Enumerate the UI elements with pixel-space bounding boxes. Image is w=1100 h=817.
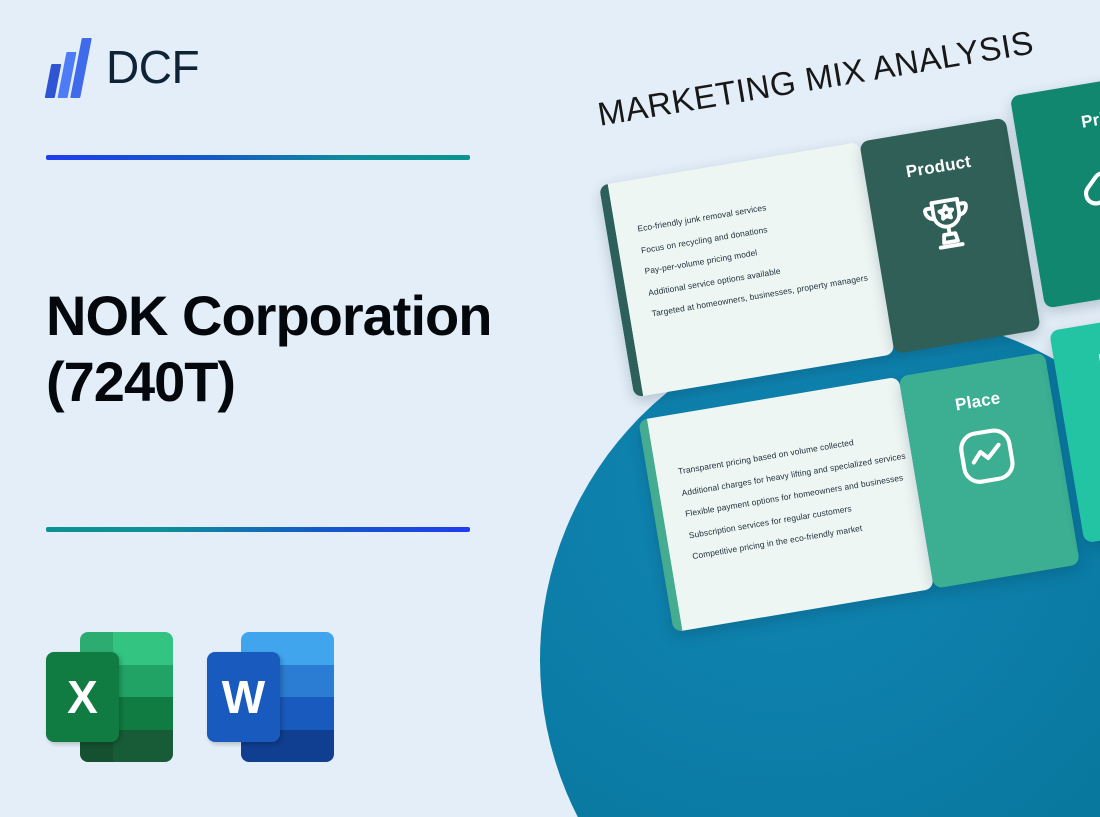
word-badge-letter: W bbox=[207, 652, 280, 742]
product-details-card: Eco-friendly junk removal services Focus… bbox=[599, 142, 895, 398]
price-details-list: Transparent pricing based on volume coll… bbox=[647, 377, 923, 565]
trophy-icon bbox=[912, 186, 984, 262]
brand-logo[interactable]: DCF bbox=[46, 36, 199, 98]
divider-bottom bbox=[46, 527, 470, 532]
quadrant-promotion-label: Promotion bbox=[1054, 330, 1100, 379]
left-panel: DCF NOK Corporation (7240T) X W bbox=[0, 0, 540, 817]
quadrant-place-label: Place bbox=[903, 380, 1052, 424]
divider-top bbox=[46, 155, 470, 160]
page-title-line1: NOK Corporation bbox=[46, 283, 516, 349]
excel-badge-letter: X bbox=[46, 652, 119, 742]
download-icons: X W bbox=[46, 632, 334, 762]
marketing-mix-grid: Eco-friendly junk removal services Focus… bbox=[565, 53, 1100, 652]
excel-download-icon[interactable]: X bbox=[46, 632, 173, 762]
bar-chart-logo-icon bbox=[46, 36, 92, 98]
quadrant-product-label: Product bbox=[864, 145, 1013, 189]
page-title-line2: (7240T) bbox=[46, 349, 516, 415]
price-details-card: Transparent pricing based on volume coll… bbox=[638, 377, 934, 633]
link-chain-icon bbox=[1076, 138, 1100, 214]
activity-square-icon bbox=[951, 420, 1023, 496]
word-download-icon[interactable]: W bbox=[207, 632, 334, 762]
brand-name: DCF bbox=[106, 44, 199, 90]
product-details-list: Eco-friendly junk removal services Focus… bbox=[608, 142, 883, 322]
quadrant-price-label: Price bbox=[1014, 95, 1100, 144]
page-title: NOK Corporation (7240T) bbox=[46, 283, 516, 415]
